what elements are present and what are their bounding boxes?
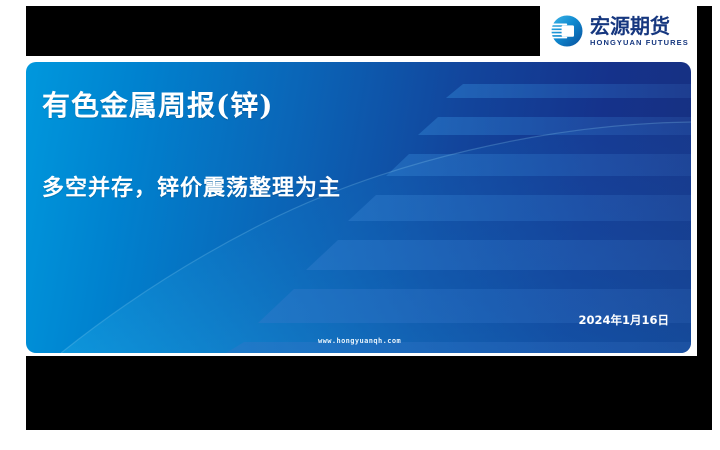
hongyuan-circular-logo-icon (548, 12, 586, 50)
page-title: 有色金属周报(锌) (42, 84, 671, 124)
brand-name-cn: 宏源期货 (590, 16, 689, 36)
brand-name-en: HONGYUAN FUTURES (590, 39, 689, 47)
website-url: www.hongyuanqh.com (318, 337, 401, 345)
title-slide: 有色金属周报(锌) 多空并存，锌价震荡整理为主 www.hongyuanqh.c… (26, 62, 691, 353)
frame-band-top (26, 6, 540, 56)
slide-text-block: 有色金属周报(锌) 多空并存，锌价震荡整理为主 (42, 84, 671, 202)
report-date: 2024年1月16日 (578, 312, 669, 328)
brand-wordmark: 宏源期货 HONGYUAN FUTURES (590, 16, 689, 47)
page-subtitle: 多空并存，锌价震荡整理为主 (42, 170, 671, 202)
brand-header: 宏源期货 HONGYUAN FUTURES (540, 6, 697, 56)
slide-page: 宏源期货 HONGYUAN FUTURES (0, 0, 720, 450)
frame-band-right (697, 6, 712, 430)
frame-band-bottom (26, 356, 697, 430)
